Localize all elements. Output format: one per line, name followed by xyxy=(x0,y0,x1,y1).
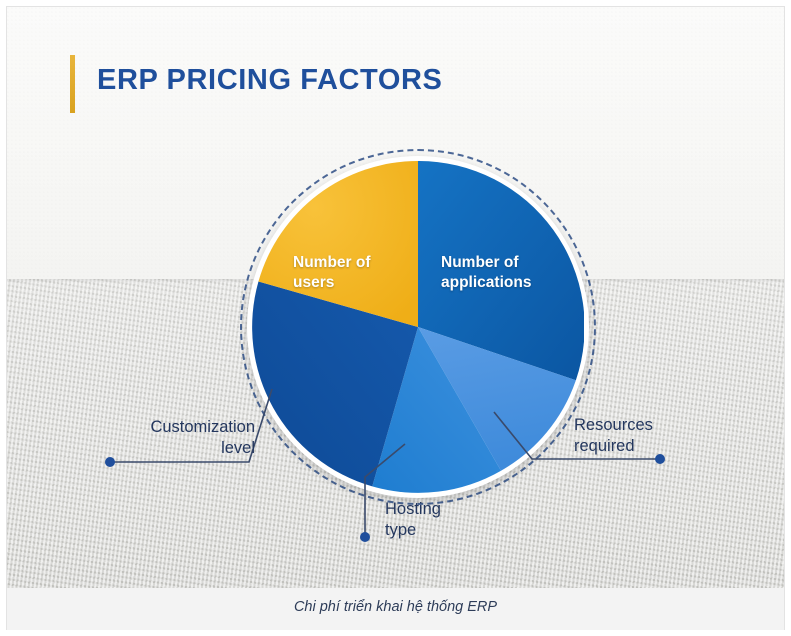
caption-strip: Chi phí triển khai hệ thống ERP xyxy=(7,588,784,630)
infographic-page: ERP PRICING FACTORS xyxy=(0,0,791,636)
pie-label-users-line1: Number of xyxy=(293,253,403,273)
callout-hosting-type: Hosting type xyxy=(385,499,495,541)
title-accent-bar xyxy=(70,55,75,113)
pie-label-number-of-applications: Number of applications xyxy=(441,253,571,293)
callout-resources-line1: Resources xyxy=(574,415,694,436)
poster-image: ERP PRICING FACTORS xyxy=(7,7,784,588)
callout-resources-required: Resources required xyxy=(574,415,694,457)
figure-caption: Chi phí triển khai hệ thống ERP xyxy=(7,599,784,615)
pie-label-number-of-users: Number of users xyxy=(293,253,403,293)
page-title: ERP PRICING FACTORS xyxy=(97,64,443,97)
pie-label-users-line2: users xyxy=(293,273,403,293)
callout-resources-line2: required xyxy=(574,436,694,457)
pie-chart xyxy=(240,149,596,505)
pie-label-apps-line1: Number of xyxy=(441,253,571,273)
callout-customization-line1: Customization xyxy=(125,417,255,438)
callout-hosting-line1: Hosting xyxy=(385,499,495,520)
callout-hosting-line2: type xyxy=(385,520,495,541)
pie-slices xyxy=(252,161,584,493)
callout-customization-line2: level xyxy=(125,438,255,459)
pie-label-apps-line2: applications xyxy=(441,273,571,293)
callout-customization-level: Customization level xyxy=(125,417,255,459)
